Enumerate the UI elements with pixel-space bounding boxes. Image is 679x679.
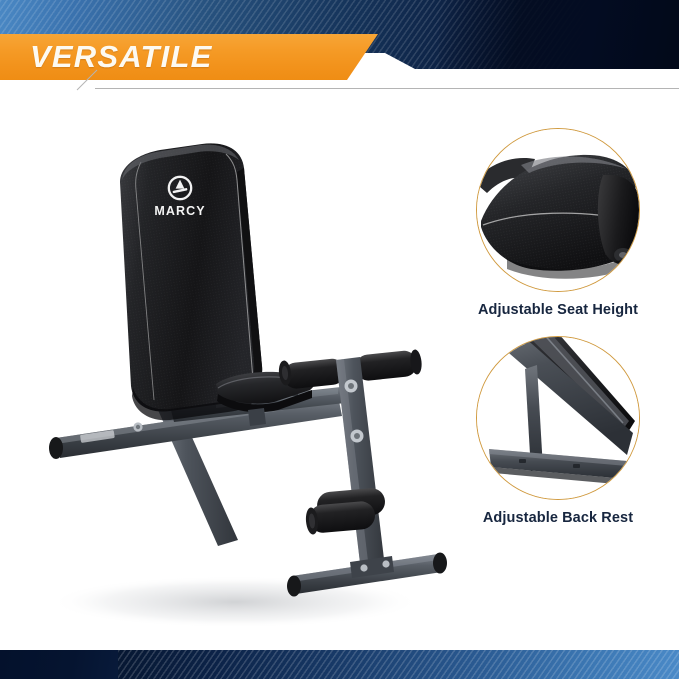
header-hairline (95, 88, 679, 89)
bracket-bolt-2 (382, 560, 389, 567)
callout-2-caption: Adjustable Back Rest (452, 510, 664, 526)
header-hairline-group (0, 69, 679, 99)
c2-hole-2 (573, 464, 580, 468)
product-image: MARCY (20, 110, 450, 640)
upper-roller-right (354, 350, 418, 382)
callout-2-image (476, 336, 640, 500)
front-foot-endcap (49, 437, 63, 459)
callout-adjustable-back-rest: Adjustable Back Rest (452, 336, 664, 526)
rear-foot-endcap-right (433, 553, 447, 574)
marcy-logo-text: MARCY (154, 204, 205, 218)
callout-adjustable-seat-height: Adjustable Seat Height (452, 128, 664, 318)
bracket-bolt-1 (360, 564, 367, 571)
footer-banner (0, 650, 679, 679)
c2-hole-1 (519, 459, 526, 463)
footer-diagonal-stripes (112, 650, 679, 679)
header-hairline-diagonal (75, 69, 105, 89)
product-feature-page: VERSATILE (0, 0, 679, 679)
callout-1-caption: Adjustable Seat Height (452, 302, 664, 318)
rear-foot-endcap-left (287, 576, 301, 597)
seat-bracket (248, 408, 266, 426)
footer-solid-left (0, 650, 118, 679)
header-dark-overlay (439, 0, 679, 69)
product-shadow (50, 576, 420, 628)
callout-1-image (476, 128, 640, 292)
